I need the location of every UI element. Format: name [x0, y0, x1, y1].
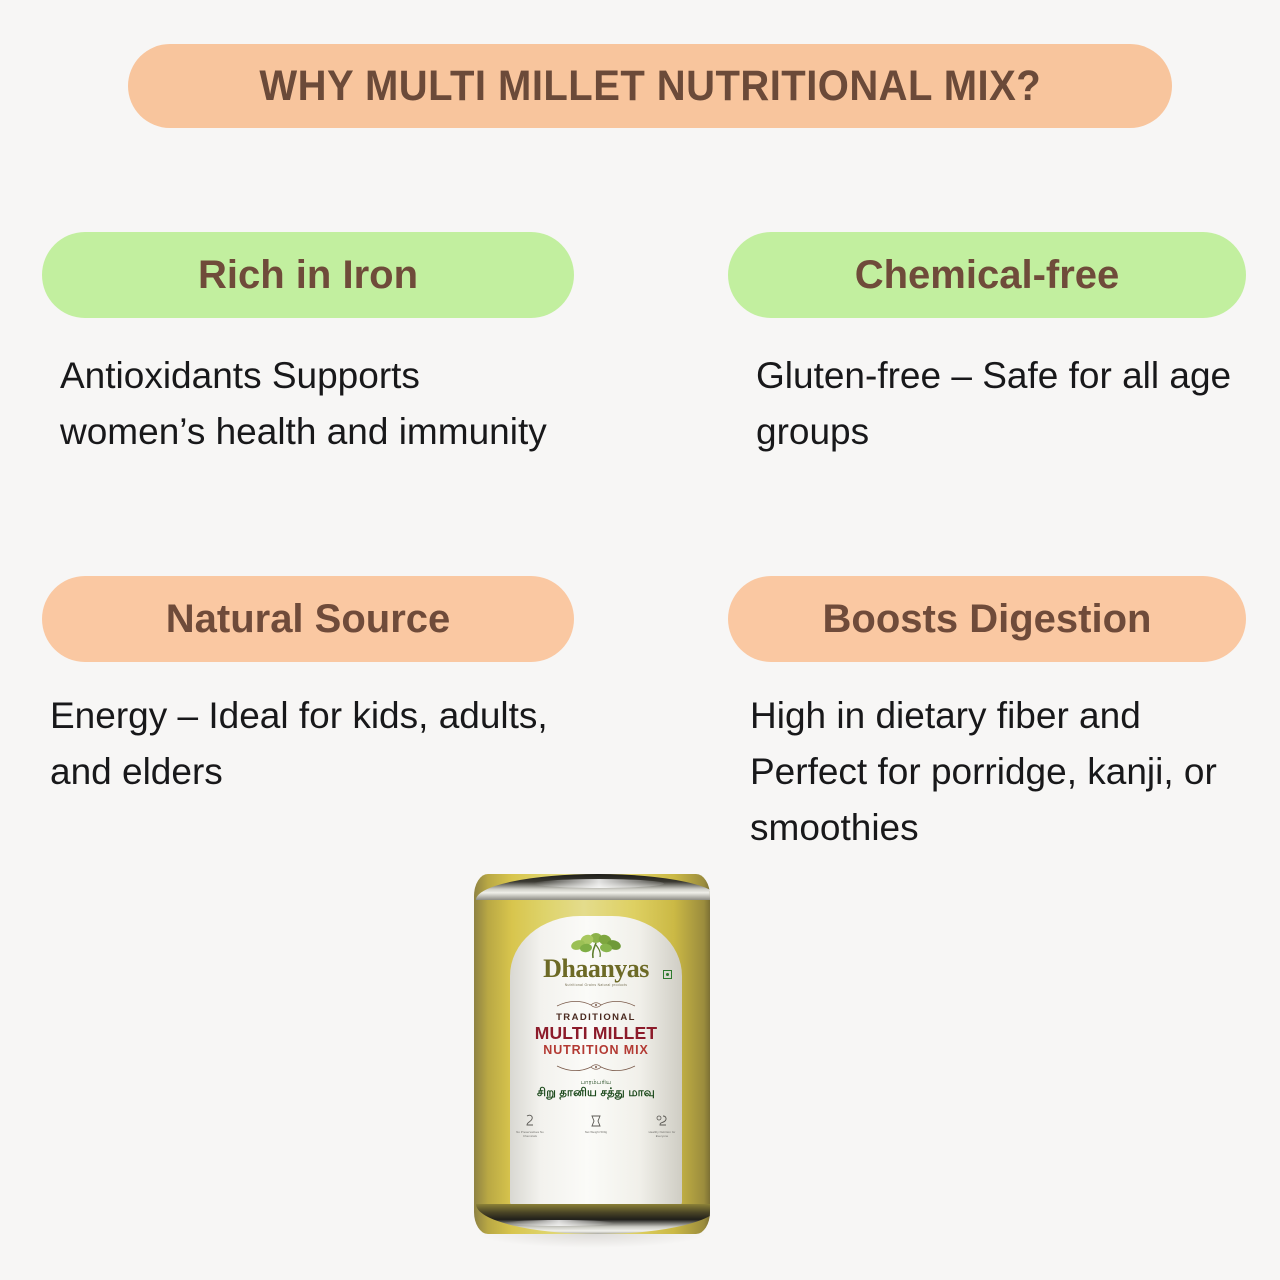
- brand-tagline: Nutritional Grains Natural products: [565, 983, 628, 987]
- benefit-label: Natural Source: [166, 597, 451, 642]
- benefit-pill-natural-source: Natural Source: [42, 576, 574, 662]
- brand-name: Dhaanyas: [543, 957, 649, 982]
- can-top-highlight: [534, 879, 664, 888]
- benefit-card-boosts-digestion: Boosts Digestion High in dietary fiber a…: [728, 576, 1246, 857]
- jar-icon: [588, 1113, 604, 1129]
- benefit-label: Chemical-free: [855, 253, 1120, 298]
- product-feature-icons: No Preservatives No Chemicals Net Weight…: [510, 1113, 682, 1138]
- product-line-main: MULTI MILLET: [535, 1024, 658, 1042]
- benefit-card-natural-source: Natural Source Energy – Ideal for kids, …: [42, 576, 574, 800]
- product-can-image: Dhaanyas Nutritional Grains Natural prod…: [468, 866, 716, 1244]
- can-bottom-highlight: [504, 1220, 614, 1226]
- vegetarian-mark-icon: [663, 970, 672, 979]
- ornament-flourish-icon: [553, 999, 639, 1011]
- benefit-label: Rich in Iron: [198, 253, 418, 298]
- product-label: Dhaanyas Nutritional Grains Natural prod…: [510, 916, 682, 1206]
- benefit-card-chemical-free: Chemical-free Gluten-free – Safe for all…: [728, 232, 1246, 460]
- feature-icon-caption: Net Weight 500g: [585, 1131, 607, 1134]
- feature-icon-item: Net Weight 500g: [576, 1113, 616, 1138]
- product-line-sub: NUTRITION MIX: [543, 1043, 648, 1057]
- benefit-description: Energy – Ideal for kids, adults, and eld…: [42, 688, 574, 800]
- pouch-icon: [522, 1113, 538, 1129]
- bowl-icon: [654, 1113, 670, 1129]
- benefit-pill-chemical-free: Chemical-free: [728, 232, 1246, 318]
- feature-icon-caption: No Preservatives No Chemicals: [510, 1131, 550, 1138]
- feature-icon-item: No Preservatives No Chemicals: [510, 1113, 550, 1138]
- feature-icon-caption: Healthy Nutrition for Everyone: [642, 1131, 682, 1138]
- product-tamil-main: சிறு தானிய சத்து மாவு: [537, 1087, 655, 1101]
- product-line-traditional: TRADITIONAL: [556, 1012, 636, 1023]
- benefit-description: Antioxidants Supports women’s health and…: [42, 348, 574, 460]
- benefit-pill-boosts-digestion: Boosts Digestion: [728, 576, 1246, 662]
- ornament-flourish-lower-icon: [553, 1061, 639, 1073]
- benefit-pill-rich-in-iron: Rich in Iron: [42, 232, 574, 318]
- benefit-card-rich-in-iron: Rich in Iron Antioxidants Supports women…: [42, 232, 574, 460]
- benefit-label: Boosts Digestion: [823, 597, 1152, 642]
- feature-icon-item: Healthy Nutrition for Everyone: [642, 1113, 682, 1138]
- benefit-description: High in dietary fiber and Perfect for po…: [728, 688, 1246, 857]
- can-bottom-rim: [476, 1204, 710, 1234]
- benefit-description: Gluten-free – Safe for all age groups: [728, 348, 1246, 460]
- can-body: Dhaanyas Nutritional Grains Natural prod…: [474, 874, 710, 1234]
